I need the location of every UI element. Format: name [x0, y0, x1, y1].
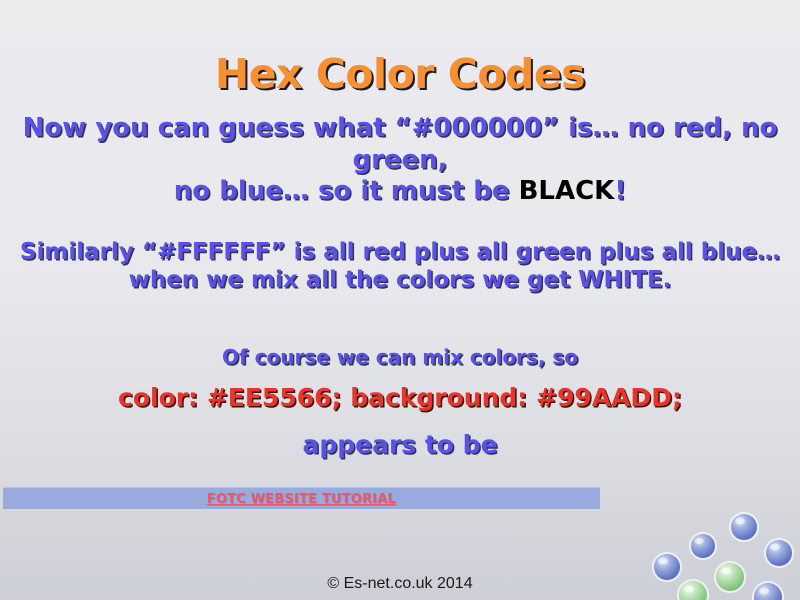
paragraph-1-line-2-prefix: no blue… so it must be — [174, 176, 519, 206]
sphere-blue-3 — [764, 538, 794, 568]
keyword-black: BLACK — [519, 176, 615, 206]
copyright-footer: © Es-net.co.uk 2014 — [0, 575, 800, 593]
css-code-line: color: #EE5566; background: #99AADD; — [0, 383, 800, 412]
slide-title: Hex Color Codes — [0, 50, 800, 98]
paragraph-black-explanation: Now you can guess what “#000000” is… no … — [0, 113, 800, 208]
paragraph-appears-to-be: appears to be — [0, 430, 800, 461]
slide-canvas: Hex Color Codes Now you can guess what “… — [0, 0, 800, 600]
paragraph-1-line-1: Now you can guess what “#000000” is… no … — [23, 113, 778, 175]
sphere-blue-2 — [689, 532, 717, 560]
fotc-website-tutorial-link[interactable]: FOTC WEBSITE TUTORIAL — [207, 492, 396, 507]
color-demo-bar: FOTC WEBSITE TUTORIAL — [3, 487, 600, 509]
paragraph-mix-colors: Of course we can mix colors, so — [0, 345, 800, 369]
paragraph-white-explanation: Similarly “#FFFFFF” is all red plus all … — [0, 238, 800, 294]
sphere-blue-1 — [729, 512, 759, 542]
paragraph-1-line-2-suffix: ! — [614, 176, 626, 206]
